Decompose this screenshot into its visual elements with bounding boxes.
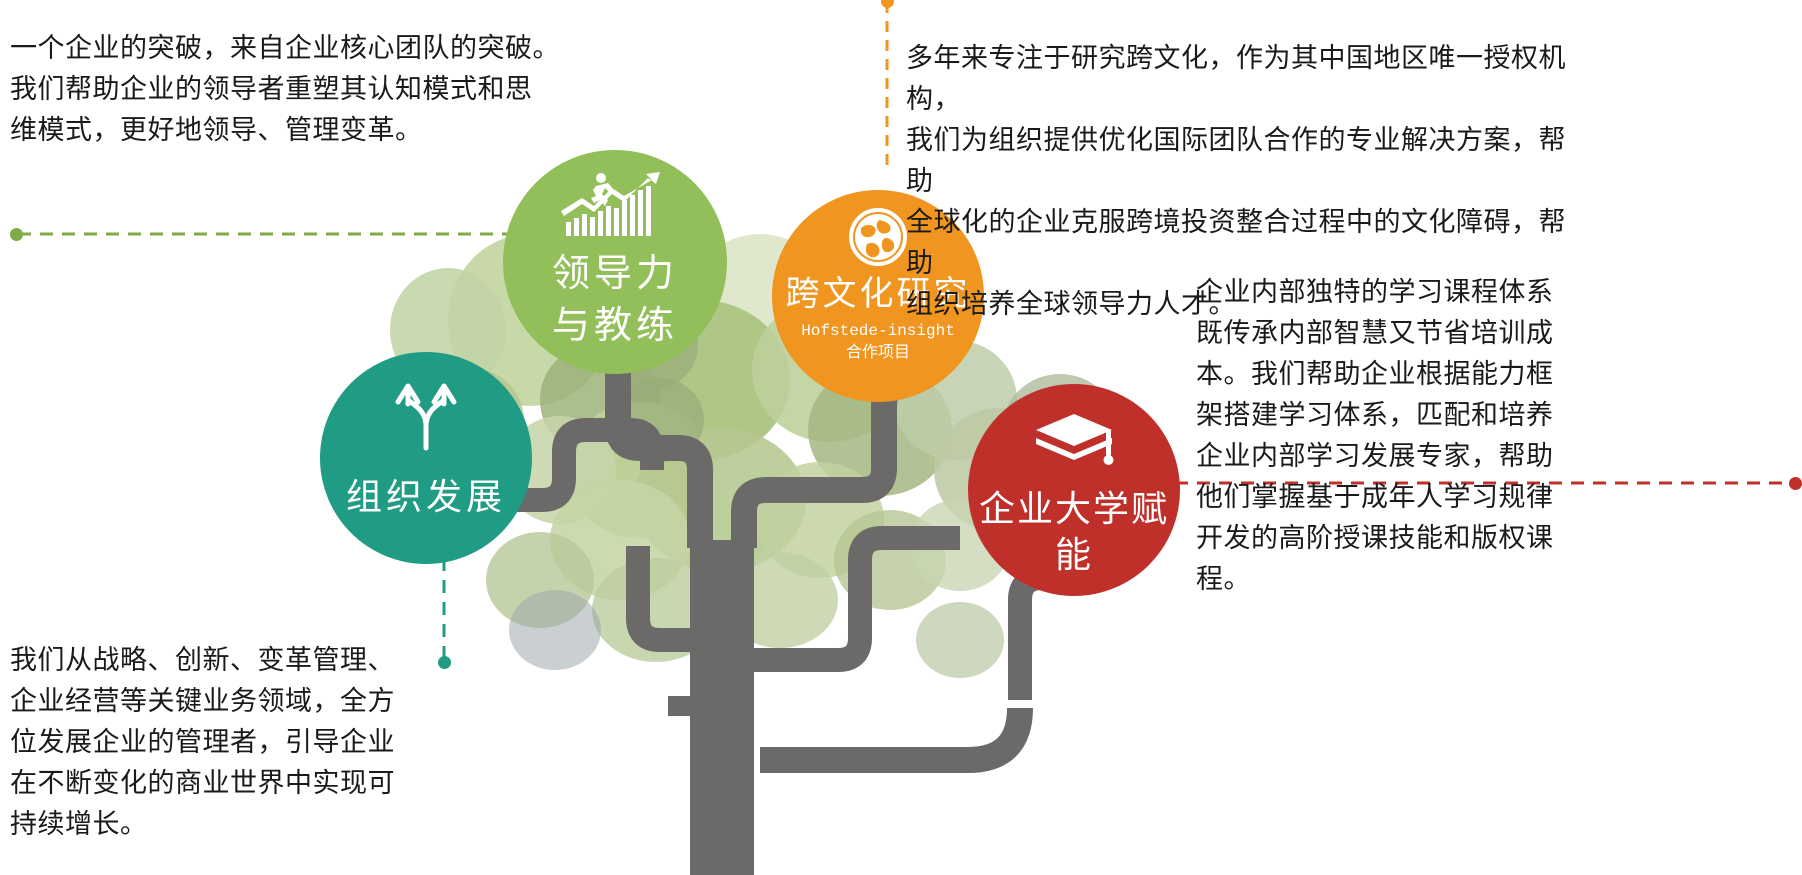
node-university-title: 企业大学赋 能 xyxy=(979,486,1169,578)
connector-dot-leadership xyxy=(10,228,23,241)
running-person-growth-chart-icon xyxy=(560,170,670,240)
node-organisation[interactable]: 组织发展 xyxy=(320,352,532,564)
connector-dot-university xyxy=(1789,477,1802,490)
branch-right-upper xyxy=(1020,578,1056,700)
node-organisation-title: 组织发展 xyxy=(346,474,506,520)
node-leadership[interactable]: 领导力 与教练 xyxy=(503,150,727,374)
node-university[interactable]: 企业大学赋 能 xyxy=(968,384,1180,596)
paragraph-university: 企业内部独特的学习课程体系 既传承内部智慧又节省培训成 本。我们帮助企业根据能力… xyxy=(1196,272,1616,600)
foliage-blob xyxy=(916,602,1004,678)
paragraph-leadership: 一个企业的突破，来自企业核心团队的突破。 我们帮助企业的领导者重塑其认知模式和思… xyxy=(10,28,570,151)
globe-icon xyxy=(847,206,909,268)
foliage-blob xyxy=(509,590,601,670)
connector-dot-organisation xyxy=(438,656,451,669)
paragraph-organisation: 我们从战略、创新、变革管理、 企业经营等关键业务领域，全方 位发展企业的管理者，… xyxy=(10,640,430,845)
graduation-cap-icon xyxy=(1032,410,1116,474)
node-crossculture-subtitle: Hofstede-insight 合作项目 xyxy=(801,320,955,364)
branch-bottom-right xyxy=(760,708,1020,760)
node-leadership-title: 领导力 与教练 xyxy=(552,248,678,352)
infographic-canvas: 领导力 与教练 跨文化研究 Hofstede-insight 合作项目 xyxy=(0,0,1802,875)
branching-arrows-icon xyxy=(386,374,466,454)
